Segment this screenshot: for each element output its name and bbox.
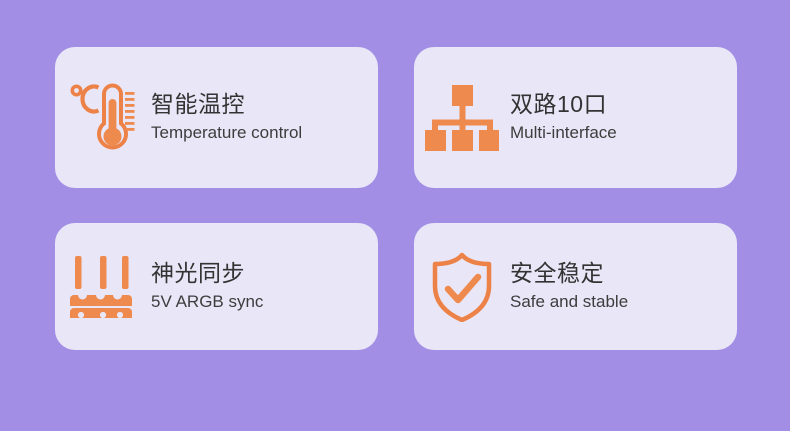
feature-grid: 智能温控 Temperature control bbox=[55, 47, 737, 350]
feature-card-temperature-control[interactable]: 智能温控 Temperature control bbox=[55, 47, 378, 188]
feature-card-safe-stable[interactable]: 安全稳定 Safe and stable bbox=[414, 223, 737, 350]
feature-title-cn: 神光同步 bbox=[151, 258, 378, 289]
feature-card-multi-interface[interactable]: 双路10口 Multi-interface bbox=[414, 47, 737, 188]
feature-title-cn: 安全稳定 bbox=[510, 258, 737, 289]
feature-text-group: 智能温控 Temperature control bbox=[151, 89, 378, 146]
feature-text-group: 神光同步 5V ARGB sync bbox=[151, 258, 378, 315]
shield-check-icon bbox=[414, 252, 510, 322]
router-antenna-icon bbox=[55, 256, 151, 318]
feature-text-group: 双路10口 Multi-interface bbox=[510, 89, 737, 146]
feature-title-cn: 双路10口 bbox=[510, 89, 737, 120]
feature-card-argb-sync[interactable]: 神光同步 5V ARGB sync bbox=[55, 223, 378, 350]
feature-title-en: Multi-interface bbox=[510, 120, 737, 146]
feature-title-cn: 智能温控 bbox=[151, 89, 378, 120]
network-hierarchy-icon bbox=[414, 83, 510, 153]
feature-text-group: 安全稳定 Safe and stable bbox=[510, 258, 737, 315]
thermometer-celsius-icon bbox=[55, 81, 151, 155]
feature-title-en: Temperature control bbox=[151, 120, 378, 146]
feature-title-en: Safe and stable bbox=[510, 289, 737, 315]
feature-title-en: 5V ARGB sync bbox=[151, 289, 378, 315]
